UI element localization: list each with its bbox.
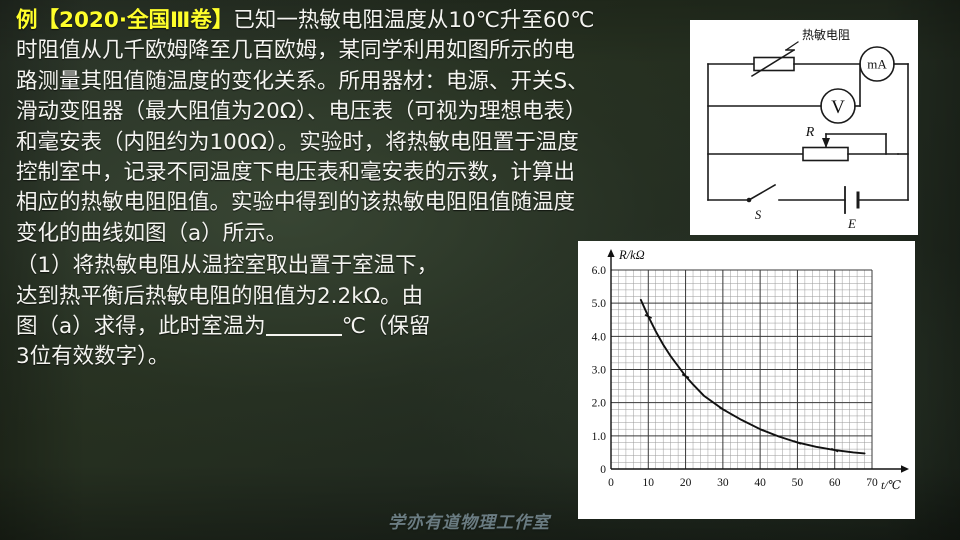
resistance-temperature-chart: 01.02.03.04.05.06.0010203040506070R/kΩt/…	[578, 241, 915, 519]
switch-pivot	[747, 198, 752, 203]
rheostat-wiper-arrow	[822, 138, 830, 148]
watermark-label: 学亦有道物理工作室	[388, 508, 550, 533]
chart-marked-points	[645, 315, 838, 452]
question-1-line-4: 3位有效数字）。	[16, 342, 576, 372]
chart-y-tick-label: 2.0	[592, 398, 607, 410]
chart-y-axis-title: R/kΩ	[618, 248, 645, 262]
chart-y-tick-label: 5.0	[592, 298, 607, 310]
thermistor-caption-label: 热敏电阻	[802, 27, 850, 42]
ammeter-label: mA	[867, 57, 887, 72]
chart-x-tick-label: 20	[680, 477, 692, 489]
chart-x-tick-label: 10	[643, 477, 655, 489]
problem-line-2: 时阻值从几千欧姆降至几百欧姆，某同学利用如图所示的电	[16, 36, 576, 66]
question-1-line-2: 达到热平衡后热敏电阻的阻值为2.2kΩ。由	[16, 282, 576, 312]
chart-x-tick-label: 50	[792, 477, 804, 489]
rheostat-body	[803, 148, 848, 161]
resistance-temperature-graph-panel: 01.02.03.04.05.06.0010203040506070R/kΩt/…	[578, 241, 915, 519]
circuit-diagram-svg: 热敏电阻 mA V R S E	[690, 20, 918, 235]
question-1-line-3-before: 图（a）求得，此时室温为	[16, 314, 266, 339]
question-1-block: （1）将热敏电阻从温控室取出置于室温下， 达到热平衡后热敏电阻的阻值为2.2kΩ…	[16, 251, 576, 373]
chart-x-axis-arrow	[901, 465, 909, 473]
problem-text-block: 例【2020·全国Ⅲ卷】已知一热敏电阻温度从10℃升至60℃ 时阻值从几千欧姆降…	[16, 6, 576, 373]
voltmeter-label: V	[831, 97, 845, 118]
rheostat-label: R	[805, 125, 815, 140]
chart-x-tick-label: 30	[717, 477, 729, 489]
battery-label: E	[847, 216, 856, 231]
problem-line-7: 相应的热敏电阻阻值。实验中得到的该热敏电阻阻值随温度	[16, 188, 576, 218]
chart-y-tick-label: 0	[600, 464, 606, 476]
problem-line-1: 例【2020·全国Ⅲ卷】已知一热敏电阻温度从10℃升至60℃	[16, 6, 576, 36]
question-1-line-3-after: ℃（保留	[342, 314, 431, 339]
chart-y-tick-label: 3.0	[592, 365, 607, 377]
question-1-line-3: 图（a）求得，此时室温为℃（保留	[16, 312, 576, 342]
chart-y-tick-label: 1.0	[592, 431, 607, 443]
chart-y-tick-label: 4.0	[592, 331, 607, 343]
chart-x-tick-label: 0	[608, 477, 614, 489]
problem-line-4: 滑动变阻器（最大阻值为20Ω）、电压表（可视为理想电表）	[16, 97, 576, 127]
problem-tag: 例【2020·全国Ⅲ卷】	[16, 8, 233, 33]
problem-line-1-text: 已知一热敏电阻温度从10℃升至60℃	[233, 8, 594, 33]
chart-y-tick-label: 6.0	[592, 265, 607, 277]
problem-line-8: 变化的曲线如图（a）所示。	[16, 219, 576, 249]
chart-x-tick-label: 70	[866, 477, 878, 489]
switch-label: S	[755, 207, 762, 222]
problem-line-3: 路测量其阻值随温度的变化关系。所用器材：电源、开关S、	[16, 67, 576, 97]
problem-line-6: 控制室中，记录不同温度下电压表和毫安表的示数，计算出	[16, 158, 576, 188]
chart-y-axis-arrow	[607, 249, 614, 257]
slide-canvas: 例【2020·全国Ⅲ卷】已知一热敏电阻温度从10℃升至60℃ 时阻值从几千欧姆降…	[0, 0, 960, 540]
problem-line-5: 和毫安表（内阻约为100Ω）。实验时，将热敏电阻置于温度	[16, 128, 576, 158]
chart-x-tick-label: 60	[829, 477, 841, 489]
circuit-diagram-panel: 热敏电阻 mA V R S E	[690, 20, 918, 235]
answer-blank[interactable]	[266, 334, 342, 336]
chart-x-tick-label: 40	[754, 477, 766, 489]
question-1-line-1: （1）将热敏电阻从温控室取出置于室温下，	[16, 251, 576, 281]
thermistor-leader	[786, 42, 798, 50]
chart-x-axis-title: t/℃	[881, 478, 902, 492]
chart-major-gridlines	[611, 270, 872, 469]
thermistor-body	[754, 58, 794, 71]
switch-blade	[749, 185, 775, 200]
